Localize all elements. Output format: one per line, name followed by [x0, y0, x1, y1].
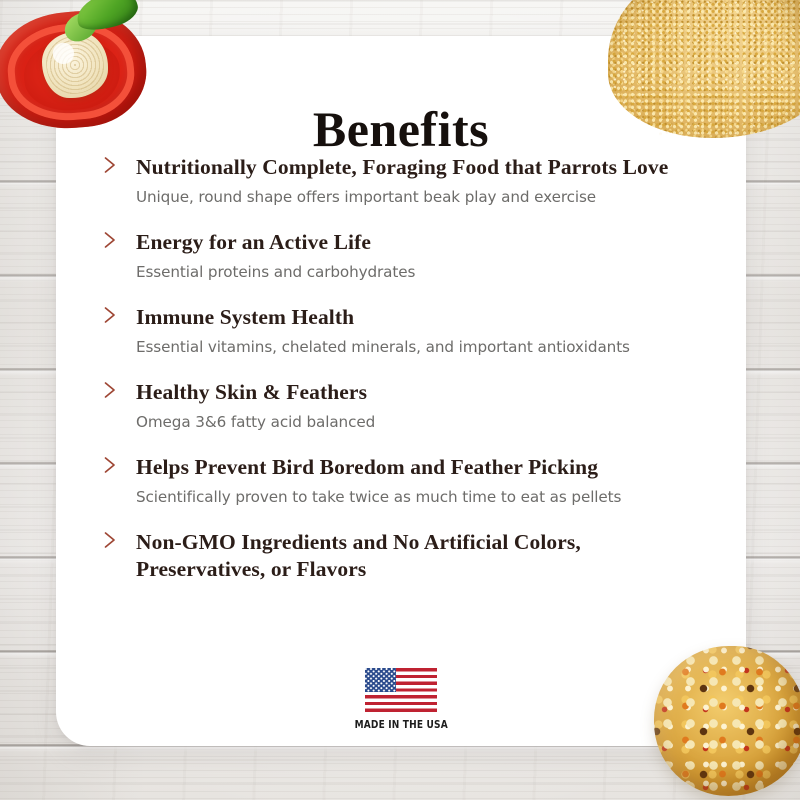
chevron-right-icon — [102, 306, 118, 324]
chevron-right-icon — [102, 381, 118, 399]
benefit-heading: Energy for an Active Life — [136, 229, 720, 256]
benefit-item: Healthy Skin & Feathers Omega 3&6 fatty … — [96, 379, 720, 433]
benefit-heading: Helps Prevent Bird Boredom and Feather P… — [136, 454, 720, 481]
made-in-usa-label: MADE IN THE USA — [354, 719, 447, 731]
chevron-right-icon — [102, 156, 118, 174]
benefit-subtext: Scientifically proven to take twice as m… — [136, 486, 720, 508]
benefit-item: Helps Prevent Bird Boredom and Feather P… — [96, 454, 720, 508]
infographic-stage: Benefits Nutritionally Complete, Foragin… — [0, 0, 800, 800]
benefits-card: Benefits Nutritionally Complete, Foragin… — [56, 36, 746, 746]
usa-flag-icon — [365, 668, 437, 712]
page-title: Benefits — [56, 100, 746, 158]
benefit-item: Immune System Health Essential vitamins,… — [96, 304, 720, 358]
benefit-subtext: Omega 3&6 fatty acid balanced — [136, 411, 720, 433]
made-in-usa-badge: MADE IN THE USA — [56, 668, 746, 731]
benefits-list: Nutritionally Complete, Foraging Food th… — [96, 154, 720, 599]
benefit-item: Non-GMO Ingredients and No Artificial Co… — [96, 529, 720, 583]
benefit-item: Nutritionally Complete, Foraging Food th… — [96, 154, 720, 208]
chevron-right-icon — [102, 231, 118, 249]
benefit-item: Energy for an Active Life Essential prot… — [96, 229, 720, 283]
chevron-right-icon — [102, 531, 118, 549]
benefit-subtext: Essential vitamins, chelated minerals, a… — [136, 336, 720, 358]
chevron-right-icon — [102, 456, 118, 474]
flag-canton-stars — [365, 668, 396, 692]
benefit-subtext: Unique, round shape offers important bea… — [136, 186, 720, 208]
benefit-subtext: Essential proteins and carbohydrates — [136, 261, 720, 283]
benefit-heading: Non-GMO Ingredients and No Artificial Co… — [136, 529, 636, 583]
benefit-heading: Immune System Health — [136, 304, 720, 331]
benefit-heading: Healthy Skin & Feathers — [136, 379, 720, 406]
benefit-heading: Nutritionally Complete, Foraging Food th… — [136, 154, 720, 181]
